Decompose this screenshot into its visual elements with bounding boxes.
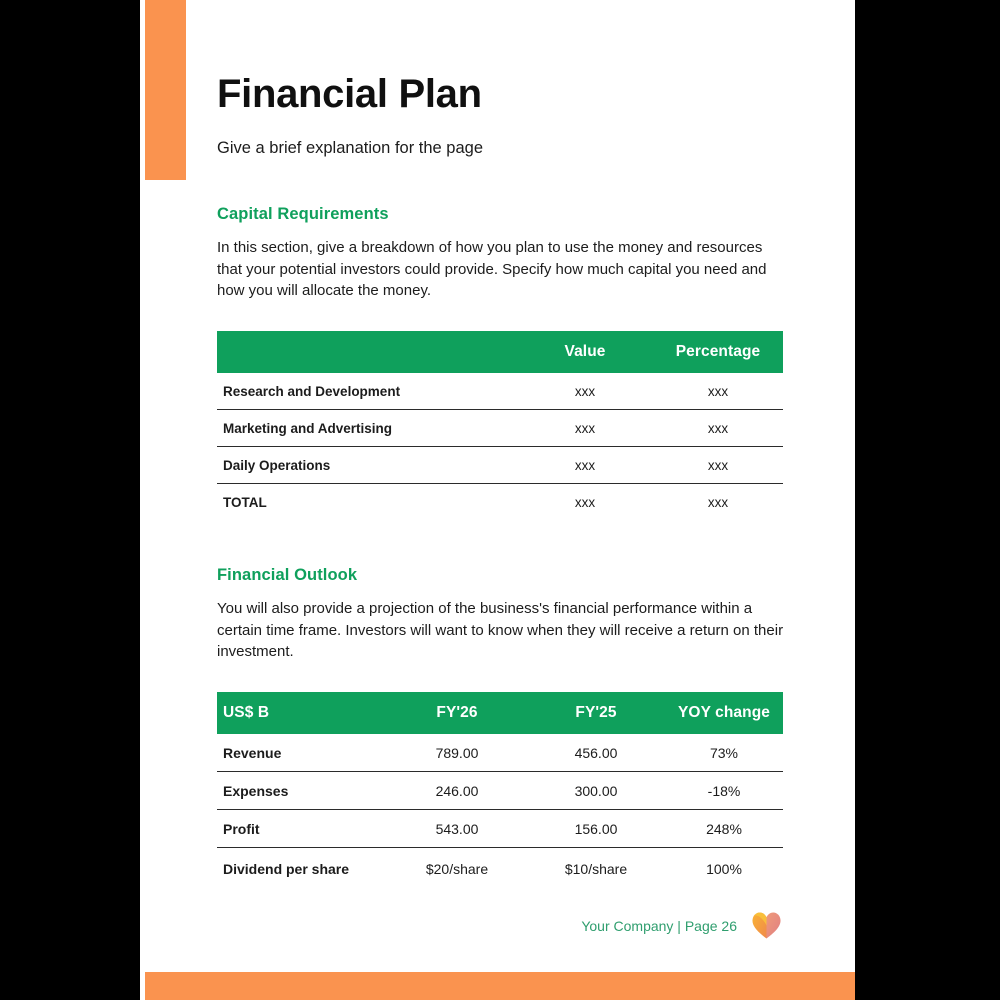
cell-yoy: 73% xyxy=(665,734,783,772)
cell-category: Research and Development xyxy=(217,373,517,410)
cell-yoy: 100% xyxy=(665,848,783,891)
table-row: Profit 543.00 156.00 248% xyxy=(217,810,783,848)
cell-value: xxx xyxy=(517,447,653,484)
cell-metric: Dividend per share xyxy=(217,848,387,891)
orange-accent-bar-top xyxy=(145,0,186,180)
cell-metric: Revenue xyxy=(217,734,387,772)
page-footer: Your Company | Page 26 xyxy=(140,911,855,940)
cell-fy25: 456.00 xyxy=(527,734,665,772)
cell-percentage: xxx xyxy=(653,447,783,484)
column-header-value: Value xyxy=(517,331,653,373)
cell-percentage: xxx xyxy=(653,410,783,447)
cell-fy26: 789.00 xyxy=(387,734,527,772)
cell-percentage: xxx xyxy=(653,484,783,521)
section-capital-requirements: Capital Requirements In this section, gi… xyxy=(217,205,785,520)
column-header-percentage: Percentage xyxy=(653,331,783,373)
table-row-total: TOTAL xxx xxx xyxy=(217,484,783,521)
column-header-yoy-change: YOY change xyxy=(665,692,783,734)
cell-value: xxx xyxy=(517,410,653,447)
section-body-financial-outlook: You will also provide a projection of th… xyxy=(217,598,785,662)
cell-percentage: xxx xyxy=(653,373,783,410)
screenshot-canvas: Financial Plan Give a brief explanation … xyxy=(0,0,1000,1000)
page-title: Financial Plan xyxy=(217,0,785,116)
cell-fy25: 156.00 xyxy=(527,810,665,848)
cell-category: Daily Operations xyxy=(217,447,517,484)
capital-requirements-table: Value Percentage Research and Developmen… xyxy=(217,331,783,520)
column-header-fy25: FY'25 xyxy=(527,692,665,734)
cell-fy25: $10/share xyxy=(527,848,665,891)
cell-category: TOTAL xyxy=(217,484,517,521)
cell-fy25: 300.00 xyxy=(527,772,665,810)
cell-fy26: $20/share xyxy=(387,848,527,891)
section-body-capital-requirements: In this section, give a breakdown of how… xyxy=(217,237,785,301)
cell-yoy: -18% xyxy=(665,772,783,810)
cell-metric: Expenses xyxy=(217,772,387,810)
table-row: Expenses 246.00 300.00 -18% xyxy=(217,772,783,810)
table-row: Marketing and Advertising xxx xxx xyxy=(217,410,783,447)
footer-company-page-label: Your Company | Page 26 xyxy=(581,918,737,934)
cell-fy26: 246.00 xyxy=(387,772,527,810)
cell-metric: Profit xyxy=(217,810,387,848)
page-subtitle: Give a brief explanation for the page xyxy=(217,116,785,159)
section-heading-financial-outlook: Financial Outlook xyxy=(217,566,785,585)
cell-category: Marketing and Advertising xyxy=(217,410,517,447)
heart-logo-icon xyxy=(751,911,782,940)
section-heading-capital-requirements: Capital Requirements xyxy=(217,205,785,224)
table-row: Revenue 789.00 456.00 73% xyxy=(217,734,783,772)
table-header-row: US$ B FY'26 FY'25 YOY change xyxy=(217,692,783,734)
orange-accent-bar-bottom xyxy=(145,972,855,1000)
document-page: Financial Plan Give a brief explanation … xyxy=(140,0,855,1000)
cell-value: xxx xyxy=(517,484,653,521)
table-row: Research and Development xxx xxx xyxy=(217,373,783,410)
financial-outlook-table: US$ B FY'26 FY'25 YOY change Revenue 789… xyxy=(217,692,783,890)
table-header-row: Value Percentage xyxy=(217,331,783,373)
cell-yoy: 248% xyxy=(665,810,783,848)
cell-fy26: 543.00 xyxy=(387,810,527,848)
column-header-fy26: FY'26 xyxy=(387,692,527,734)
column-header-units: US$ B xyxy=(217,692,387,734)
table-row: Daily Operations xxx xxx xyxy=(217,447,783,484)
column-header-category xyxy=(217,331,517,373)
section-financial-outlook: Financial Outlook You will also provide … xyxy=(217,566,785,890)
table-row: Dividend per share $20/share $10/share 1… xyxy=(217,848,783,891)
page-content: Financial Plan Give a brief explanation … xyxy=(217,0,785,890)
cell-value: xxx xyxy=(517,373,653,410)
